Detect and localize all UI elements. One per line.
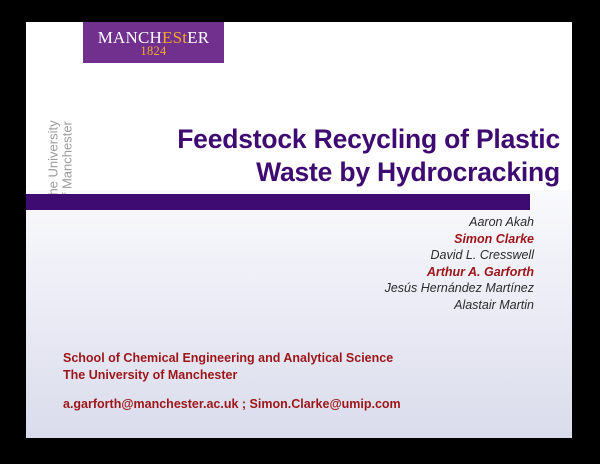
author-list: Aaron Akah Simon Clarke David L. Cresswe…: [385, 214, 534, 313]
slide-title-line-2: Waste by Hydrocracking: [90, 156, 560, 189]
slide-title-line-1: Feedstock Recycling of Plastic: [90, 123, 560, 156]
logo-year-text: 1824: [140, 45, 166, 58]
purple-divider-rule: [26, 194, 530, 210]
author-name: Jesús Hernández Martínez: [385, 280, 534, 297]
author-name: Alastair Martin: [385, 297, 534, 314]
author-name: David L. Cresswell: [385, 247, 534, 264]
affiliation-line-1: School of Chemical Engineering and Analy…: [63, 350, 393, 367]
contact-emails[interactable]: a.garforth@manchester.ac.uk ; Simon.Clar…: [63, 396, 401, 413]
affiliation-block: School of Chemical Engineering and Analy…: [63, 350, 393, 384]
logo-wordmark-post: ER: [187, 28, 209, 47]
author-name: Arthur A. Garforth: [385, 264, 534, 281]
presentation-slide: MANCHEStER 1824 The University of Manche…: [26, 22, 572, 438]
author-name: Simon Clarke: [385, 231, 534, 248]
university-logo: MANCHEStER 1824: [83, 22, 224, 63]
vertical-name-line-1: The University: [47, 74, 61, 204]
vertical-university-name: The University of Manchester: [47, 74, 74, 204]
affiliation-line-2: The University of Manchester: [63, 367, 393, 384]
author-name: Aaron Akah: [385, 214, 534, 231]
slide-frame: MANCHEStER 1824 The University of Manche…: [0, 0, 600, 464]
vertical-name-line-2: of Manchester: [60, 74, 74, 204]
slide-title: Feedstock Recycling of Plastic Waste by …: [90, 123, 560, 189]
